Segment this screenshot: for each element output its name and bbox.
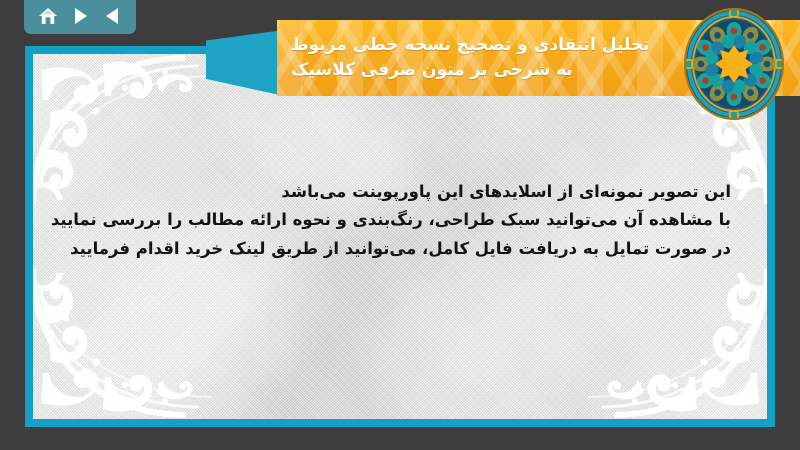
forward-button[interactable] xyxy=(66,3,94,29)
triangle-right-icon xyxy=(72,7,89,25)
home-button[interactable] xyxy=(34,3,62,29)
page-title: تحلیل انتقادی و تصحیح نسخه خطی مربوط xyxy=(291,33,649,58)
slide-frame: این تصویر نمونه‌ای از اسلایدهای این پاور… xyxy=(25,46,775,427)
triangle-left-icon xyxy=(104,7,121,25)
home-icon xyxy=(38,7,58,26)
page-subtitle: به شرحی بر متون صرفی کلاسیک xyxy=(291,58,573,83)
banner-tail-shape xyxy=(206,30,284,96)
slide-surface xyxy=(33,54,767,419)
background-texture xyxy=(33,54,767,419)
slide-viewer: این تصویر نمونه‌ای از اسلایدهای این پاور… xyxy=(0,0,800,450)
navigation-bar xyxy=(24,0,136,34)
persian-medallion-icon xyxy=(682,6,786,122)
back-button[interactable] xyxy=(98,3,126,29)
